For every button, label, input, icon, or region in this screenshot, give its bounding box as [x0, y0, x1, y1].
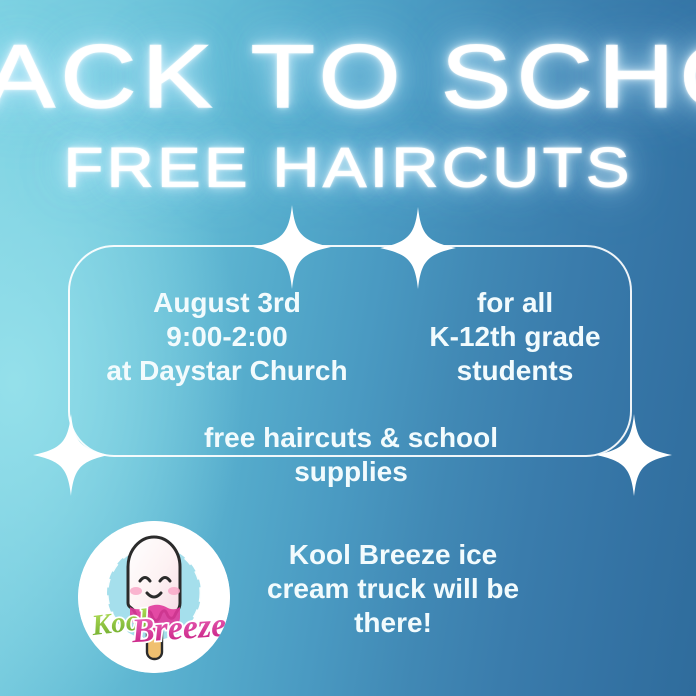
event-details-left: August 3rd 9:00-2:00 at Daystar Church: [92, 286, 362, 388]
headline-block: BACK TO SCHOOL FREE HAIRCUTS: [0, 34, 696, 195]
ice-cream-truck-note: Kool Breeze ice cream truck will be ther…: [248, 538, 538, 640]
sparkle-icon-top-left: [253, 205, 331, 289]
event-offerings: free haircuts & school supplies: [148, 421, 554, 489]
sparkle-icon-bottom-right: [596, 413, 672, 497]
poster-canvas: BACK TO SCHOOL FREE HAIRCUTS August 3rd …: [0, 0, 696, 696]
logo-word-breeze: Breeze: [130, 607, 228, 651]
headline-primary: BACK TO SCHOOL: [0, 32, 696, 121]
sparkle-icon-top-right: [380, 207, 456, 289]
kool-breeze-logo: Kool Breeze: [78, 521, 230, 673]
event-details-right: for all K-12th grade students: [400, 286, 630, 388]
sparkle-icon-bottom-left: [33, 413, 109, 497]
headline-secondary: FREE HAIRCUTS: [63, 139, 632, 195]
